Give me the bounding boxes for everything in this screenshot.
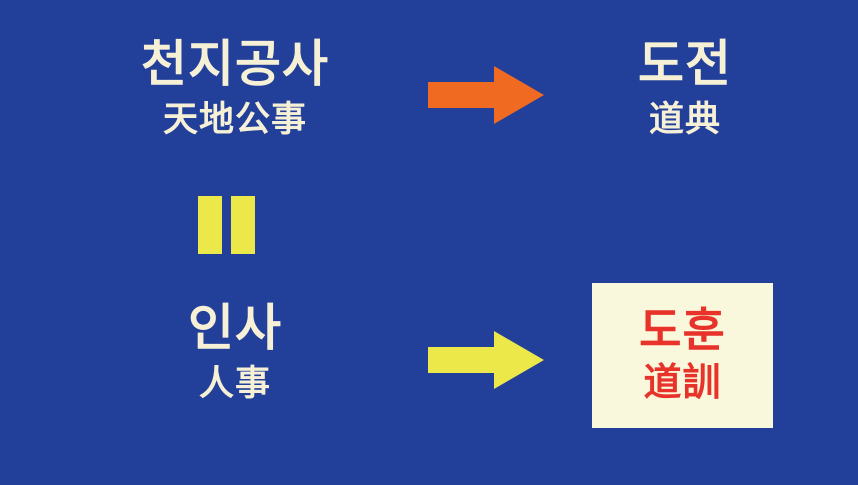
term-hangul: 천지공사 <box>80 38 390 91</box>
term-hanja: 天地公事 <box>80 101 390 140</box>
term-hangul: 도훈 <box>639 306 726 354</box>
equals-bar-left <box>198 196 222 254</box>
term-hangul: 인사 <box>110 302 360 355</box>
term-hanja: 道訓 <box>643 363 721 405</box>
equals-icon <box>198 196 256 254</box>
term-cheonjigongsa: 천지공사 天地公事 <box>80 38 390 139</box>
term-dojeon: 도전 道典 <box>570 38 800 139</box>
term-hanja: 人事 <box>110 365 360 404</box>
equals-bar-right <box>231 196 255 254</box>
arrow-right-icon-top <box>428 66 544 124</box>
arrow-right-icon-bottom <box>428 331 544 389</box>
term-hanja: 道典 <box>570 101 800 140</box>
term-dohun-highlight: 도훈 道訓 <box>592 283 773 428</box>
term-insa: 인사 人事 <box>110 302 360 403</box>
term-hangul: 도전 <box>570 38 800 91</box>
slide-canvas: 천지공사 天地公事 도전 道典 인사 人事 도훈 道訓 <box>0 0 858 485</box>
